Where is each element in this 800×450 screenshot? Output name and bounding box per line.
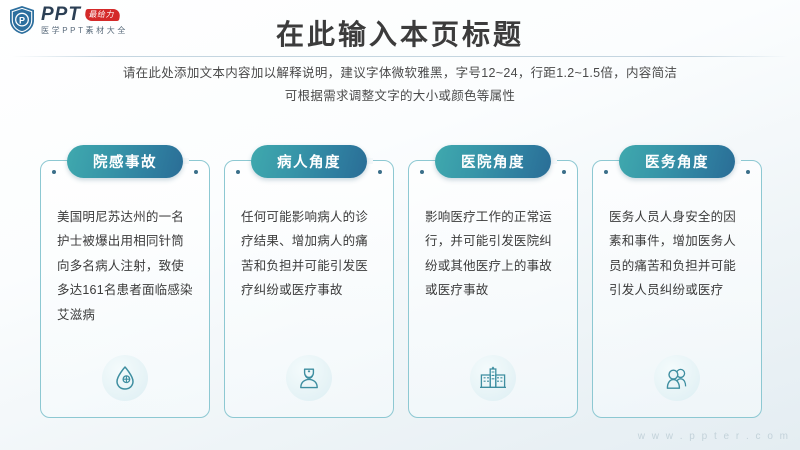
page-subtitle: 请在此处添加文本内容加以解释说明，建议字体微软雅黑，字号12~24，行距1.2~… [0,62,800,108]
corner-dot-right [746,170,750,174]
card-title-pill[interactable]: 医院角度 [435,145,551,178]
card-icon-circle [102,355,148,401]
corner-dot-left [52,170,56,174]
corner-dot-right [378,170,382,174]
site-watermark: w w w . p p t e r . c o m [638,431,790,442]
group-people-icon [663,366,691,391]
corner-dot-right [562,170,566,174]
corner-dot-left [604,170,608,174]
title-divider [12,56,788,57]
card-item[interactable]: 病人角度 任何可能影响病人的诊疗结果、增加病人的痛苦和负担并可能引发医疗纠纷或医… [224,160,394,418]
corner-dot-left [236,170,240,174]
card-item[interactable]: 院感事故 美国明尼苏达州的一名护士被爆出用相同针筒向多名病人注射，致使多达161… [40,160,210,418]
page-title: 在此输入本页标题 [0,18,800,52]
card-title-pill[interactable]: 医务角度 [619,145,735,178]
card-icon-circle [286,355,332,401]
card-item[interactable]: 医院角度 影响医疗工作的正常运行，并可能引发医院纠纷或其他医疗上的事故或医疗事故 [408,160,578,418]
card-icon-circle [470,355,516,401]
subtitle-line-2: 可根据需求调整文字的大小或颜色等属性 [0,85,800,108]
subtitle-line-1: 请在此处添加文本内容加以解释说明，建议字体微软雅黑，字号12~24，行距1.2~… [0,62,800,85]
card-body-text: 医务人员人身安全的因素和事件，增加医务人员的痛苦和负担并可能引发人员纠纷或医疗 [609,205,747,303]
hospital-building-icon [479,366,507,390]
card-title-pill[interactable]: 病人角度 [251,145,367,178]
card-icon-circle [654,355,700,401]
card-title-pill[interactable]: 院感事故 [67,145,183,178]
card-body-text: 任何可能影响病人的诊疗结果、增加病人的痛苦和负担并可能引发医疗纠纷或医疗事故 [241,205,379,303]
card-body-text: 美国明尼苏达州的一名护士被爆出用相同针筒向多名病人注射，致使多达161名患者面临… [57,205,195,327]
corner-dot-right [194,170,198,174]
card-body-text: 影响医疗工作的正常运行，并可能引发医院纠纷或其他医疗上的事故或医疗事故 [425,205,563,303]
blood-drop-icon [113,365,137,391]
card-item[interactable]: 医务角度 医务人员人身安全的因素和事件，增加医务人员的痛苦和负担并可能引发人员纠… [592,160,762,418]
corner-dot-left [420,170,424,174]
card-list: 院感事故 美国明尼苏达州的一名护士被爆出用相同针筒向多名病人注射，致使多达161… [40,160,762,418]
nurse-icon [296,365,322,391]
